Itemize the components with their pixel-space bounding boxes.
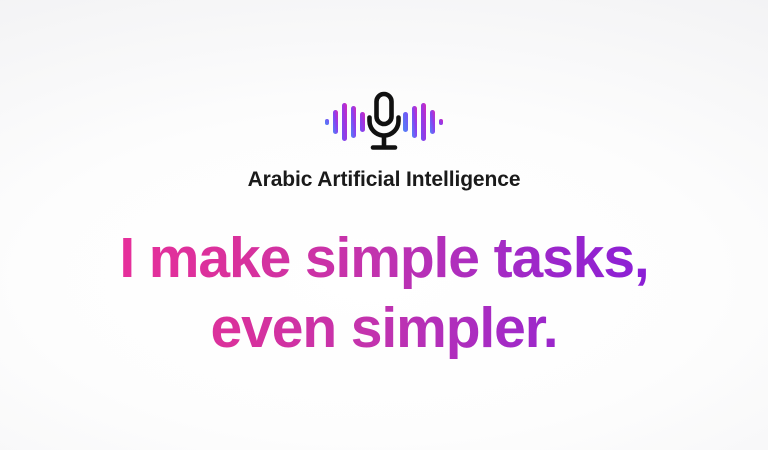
headline-line-1: I make simple tasks, xyxy=(119,227,648,291)
audio-waveform-icon-left xyxy=(325,103,365,141)
headline: I make simple tasks, even simpler. xyxy=(119,227,648,361)
headline-line-2: even simpler. xyxy=(119,297,648,361)
audio-waveform-icon-right xyxy=(403,103,443,141)
brand-name: Arabic Artificial Intelligence xyxy=(248,168,521,191)
hero-banner: Arabic Artificial Intelligence I make si… xyxy=(0,0,768,450)
microphone-waveform-logo xyxy=(319,86,449,158)
hero-content: Arabic Artificial Intelligence I make si… xyxy=(0,0,768,450)
microphone-icon xyxy=(370,94,399,148)
brand-logo xyxy=(319,86,449,158)
